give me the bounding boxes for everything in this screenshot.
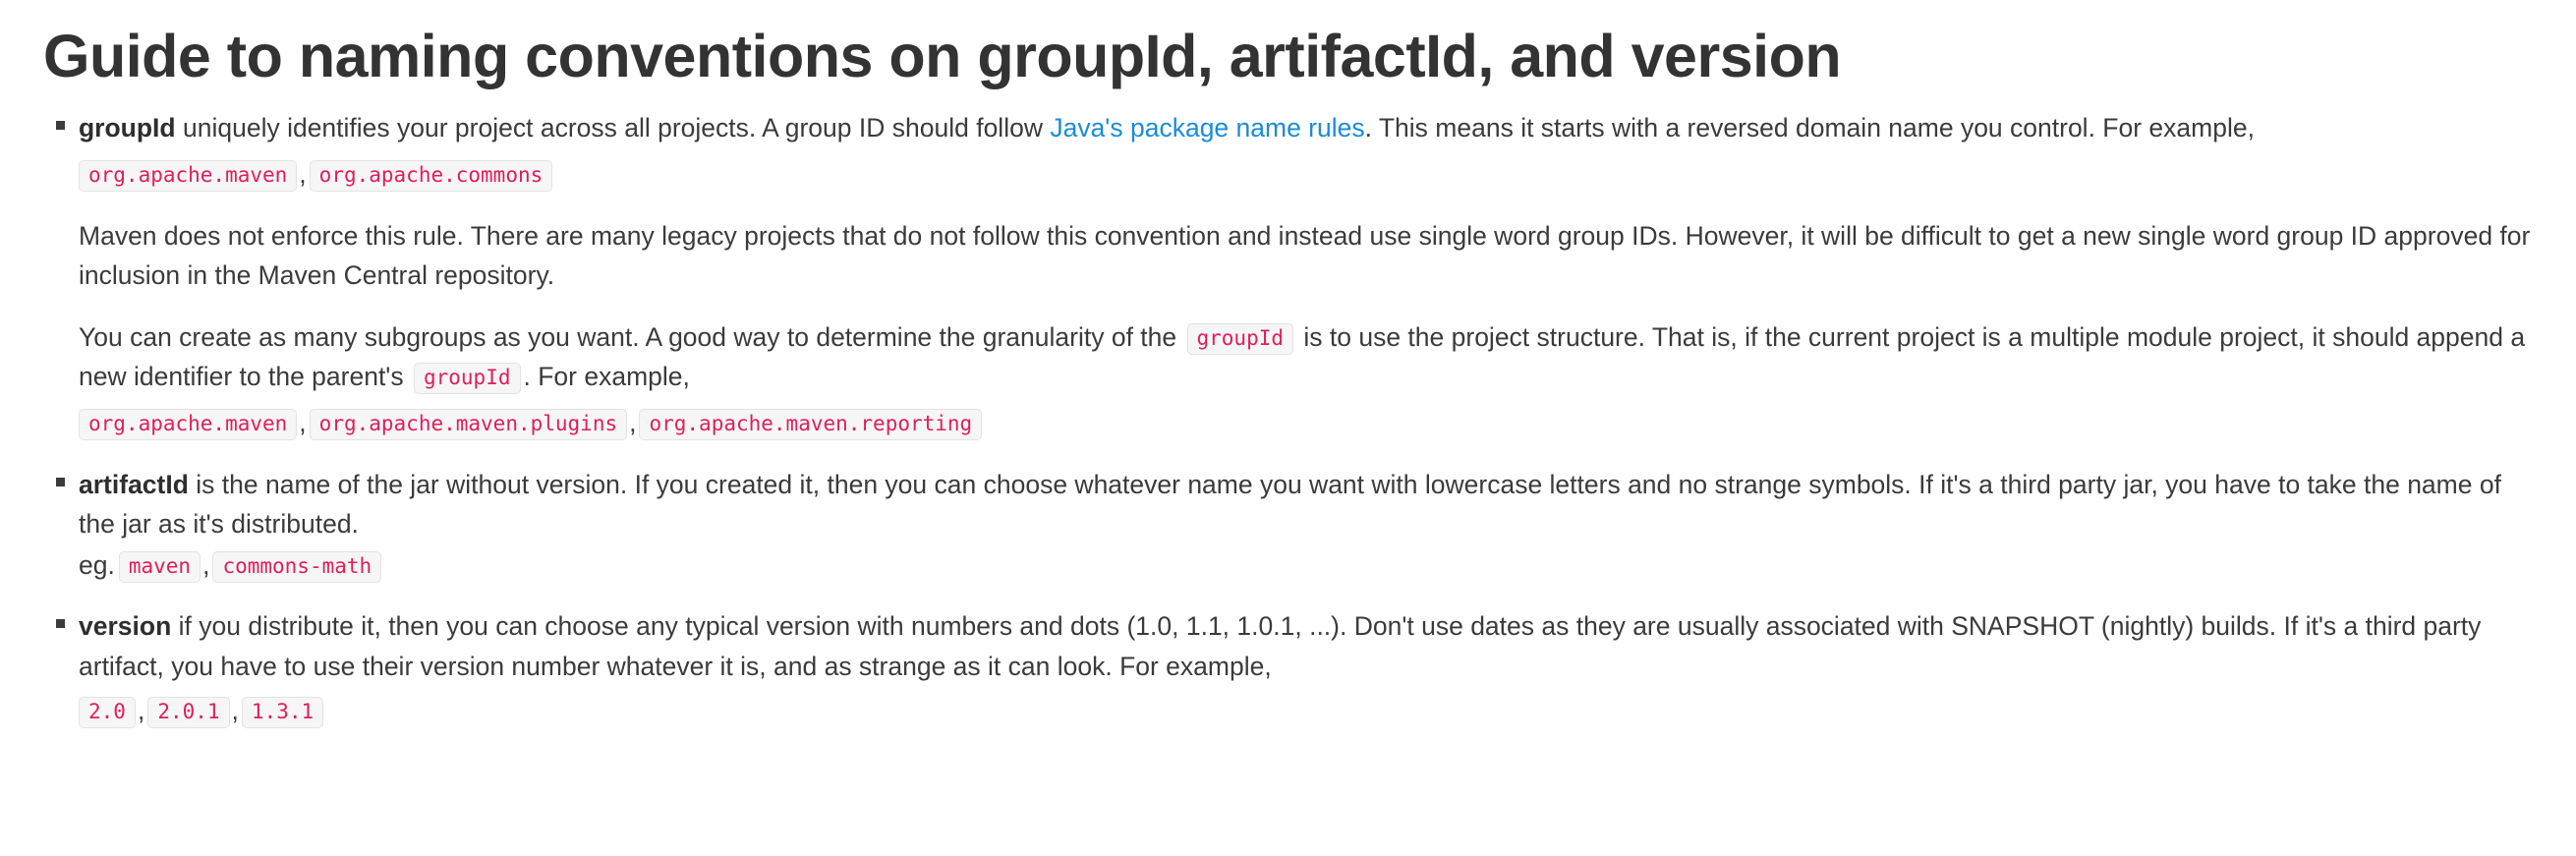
groupid-p3-part3: . For example, <box>524 362 690 391</box>
chip-separator: , <box>136 696 147 725</box>
chip-separator: , <box>200 550 212 580</box>
list-item-artifactid: artifactId is the name of the jar withou… <box>79 465 2541 585</box>
groupid-paragraph-3: You can create as many subgroups as you … <box>79 317 2541 397</box>
groupid-p3-part1: You can create as many subgroups as you … <box>79 322 1184 352</box>
code-chip: 2.0 <box>79 697 136 728</box>
inline-chip-wrap: groupId <box>1184 322 1297 352</box>
artifactid-example-chips: eg.maven,commons-math <box>79 546 2541 586</box>
chip-separator: , <box>297 159 309 189</box>
term-artifactid: artifactId <box>79 470 189 499</box>
naming-conventions-list: groupId uniquely identifies your project… <box>35 108 2541 730</box>
code-chip: org.apache.commons <box>310 160 553 192</box>
java-package-name-rules-link[interactable]: Java's package name rules <box>1050 113 1364 143</box>
groupid-example-chips: org.apache.maven,org.apache.commons <box>79 155 2541 195</box>
groupid-intro-after-link: . This means it starts with a reversed d… <box>1365 113 2255 143</box>
version-description: version if you distribute it, then you c… <box>79 606 2541 686</box>
groupid-description: groupId uniquely identifies your project… <box>79 108 2541 147</box>
code-chip: maven <box>119 551 200 583</box>
code-chip: commons-math <box>212 551 381 583</box>
code-chip: org.apache.maven.plugins <box>310 409 627 440</box>
code-chip: org.apache.maven <box>79 409 297 440</box>
examples-label: eg. <box>79 550 119 580</box>
version-text: if you distribute it, then you can choos… <box>79 611 2481 680</box>
chip-separator: , <box>297 408 309 437</box>
chip-separator: , <box>627 408 639 437</box>
code-chip: 1.3.1 <box>242 697 323 728</box>
inline-chip-wrap: groupId <box>411 362 524 391</box>
groupid-paragraph-2: Maven does not enforce this rule. There … <box>79 216 2541 296</box>
code-chip: org.apache.maven.reporting <box>639 409 982 440</box>
code-chip-inline: groupId <box>1187 323 1294 355</box>
term-groupid: groupId <box>79 113 176 143</box>
list-item-groupid: groupId uniquely identifies your project… <box>79 108 2541 443</box>
document-page: Guide to naming conventions on groupId, … <box>0 0 2576 731</box>
list-item-version: version if you distribute it, then you c… <box>79 606 2541 730</box>
version-example-chips: 2.0,2.0.1,1.3.1 <box>79 692 2541 731</box>
groupid-intro-before-link: uniquely identifies your project across … <box>176 113 1051 143</box>
code-chip-inline: groupId <box>414 363 521 394</box>
artifactid-description: artifactId is the name of the jar withou… <box>79 465 2541 544</box>
code-chip: 2.0.1 <box>147 697 229 728</box>
term-version: version <box>79 611 171 641</box>
code-chip: org.apache.maven <box>79 160 297 192</box>
chip-separator: , <box>230 696 242 725</box>
page-title: Guide to naming conventions on groupId, … <box>35 0 2541 108</box>
artifactid-text: is the name of the jar without version. … <box>79 470 2501 539</box>
groupid-subgroup-example-chips: org.apache.maven,org.apache.maven.plugin… <box>79 404 2541 443</box>
